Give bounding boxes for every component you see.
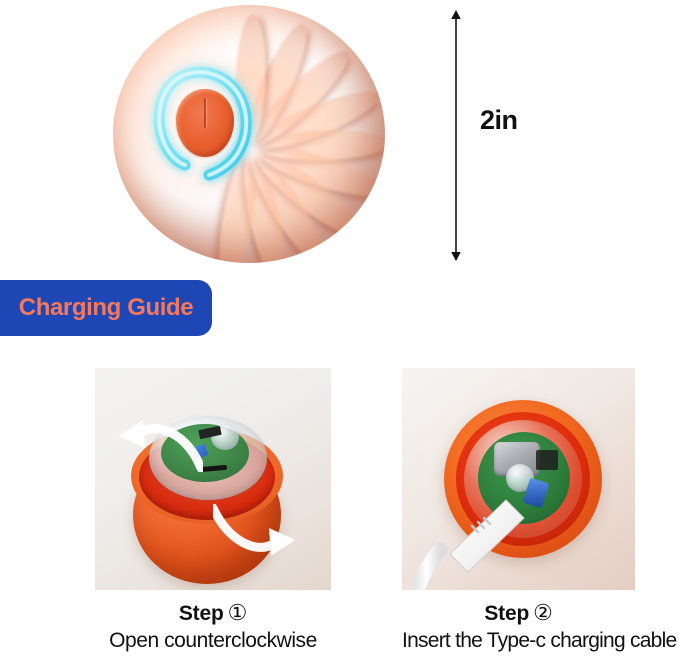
rotation-arrow-top-icon bbox=[117, 420, 203, 472]
step-2-column: Step② Insert the Type-c charging cable bbox=[402, 368, 635, 653]
step-2-description: Insert the Type-c charging cable bbox=[402, 629, 635, 653]
step-2-title: Step② bbox=[402, 600, 635, 626]
step-1-description: Open counterclockwise bbox=[95, 629, 331, 653]
ball-ribs bbox=[113, 5, 385, 263]
charging-guide-banner: Charging Guide bbox=[0, 280, 212, 336]
rotation-arrow-bottom-icon bbox=[213, 504, 297, 556]
usb-c-cable-icon bbox=[412, 488, 530, 590]
step-2-label: Step bbox=[484, 602, 529, 625]
dimension-label: 2in bbox=[480, 105, 518, 136]
step-1-column: Step① Open counterclockwise bbox=[95, 368, 331, 653]
step-2-photo bbox=[402, 368, 635, 590]
step-1-title: Step① bbox=[95, 600, 331, 626]
charging-guide-label: Charging Guide bbox=[19, 294, 193, 322]
step-1-number: ① bbox=[228, 600, 248, 626]
step-1-label: Step bbox=[179, 602, 224, 625]
step-1-photo bbox=[95, 368, 331, 590]
product-ball-image bbox=[113, 5, 385, 263]
step-2-number: ② bbox=[533, 600, 553, 626]
hero-section: 2in bbox=[0, 0, 679, 275]
dimension-arrow-icon bbox=[448, 8, 464, 263]
ic-chip bbox=[536, 450, 558, 470]
